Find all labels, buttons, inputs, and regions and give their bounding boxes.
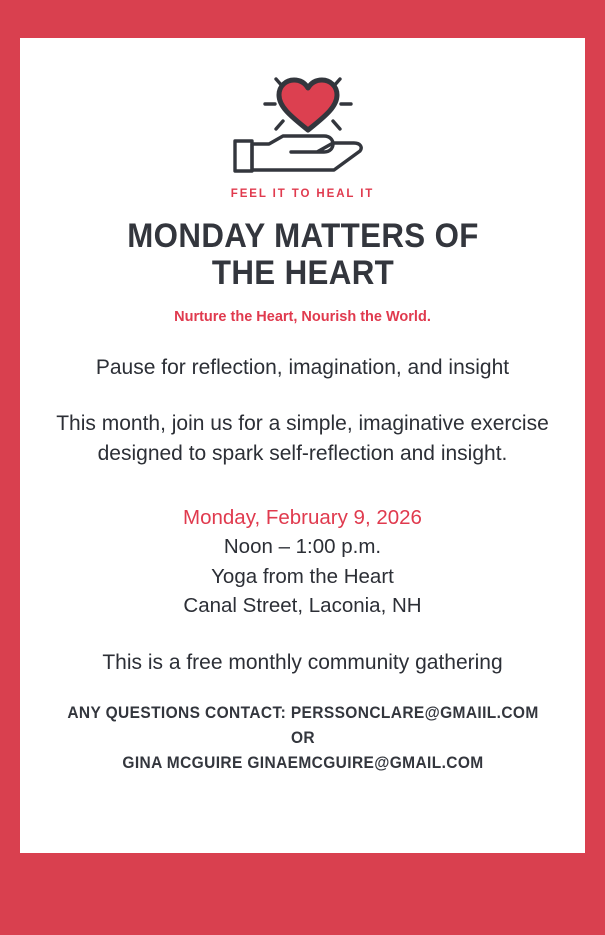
eyebrow-text: FEEL IT TO HEAL IT <box>231 188 374 200</box>
event-venue: Yoga from the Heart <box>53 562 553 592</box>
contact-line-2: GINA MCGUIRE GINAEMCGUIRE@GMAIL.COM <box>58 751 547 776</box>
heart-in-hand-icon <box>203 52 403 180</box>
tagline-text: Nurture the Heart, Nourish the World. <box>153 308 453 328</box>
page-title: MONDAY MATTERS OF THE HEART <box>100 218 505 291</box>
flyer-poster: FEEL IT TO HEAL IT MONDAY MATTERS OF THE… <box>0 0 605 935</box>
event-details: Monday, February 9, 2026 Noon – 1:00 p.m… <box>53 503 553 621</box>
contact-line-1: ANY QUESTIONS CONTACT: PERSSONCLARE@GMAI… <box>58 701 547 751</box>
description-paragraph: This month, join us for a simple, imagin… <box>28 409 578 469</box>
event-address: Canal Street, Laconia, NH <box>53 591 553 621</box>
event-date: Monday, February 9, 2026 <box>53 503 553 533</box>
contact-info: ANY QUESTIONS CONTACT: PERSSONCLARE@GMAI… <box>58 701 547 775</box>
free-event-note: This is a free monthly community gatheri… <box>23 649 583 676</box>
event-time: Noon – 1:00 p.m. <box>53 532 553 562</box>
lede-text: Pause for reflection, imagination, and i… <box>23 354 583 381</box>
flyer-content-panel: FEEL IT TO HEAL IT MONDAY MATTERS OF THE… <box>20 38 585 853</box>
